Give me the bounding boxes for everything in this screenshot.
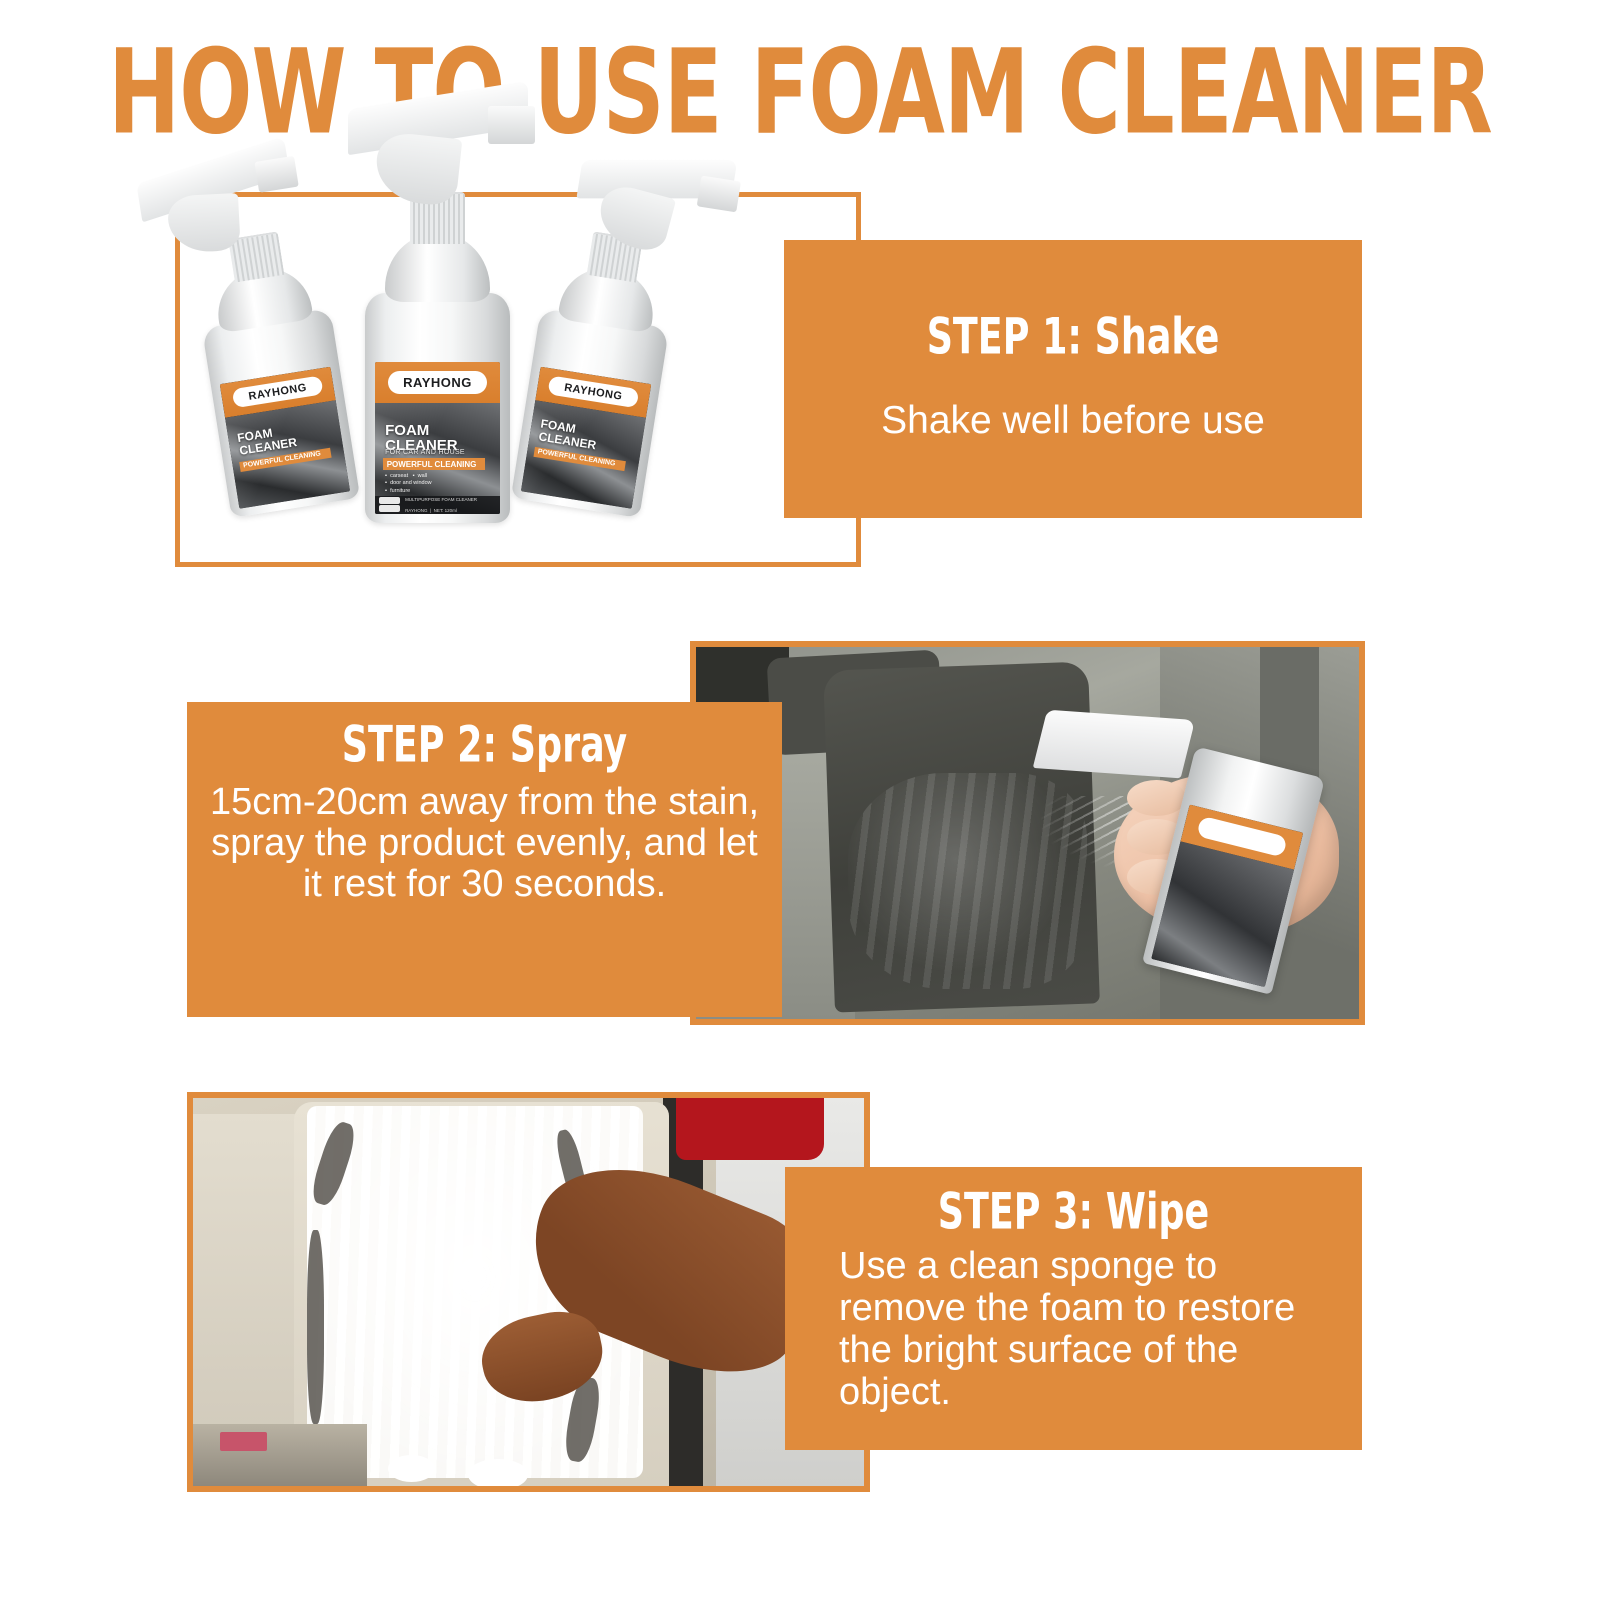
product-bottle-right: RAYHONG FOAM CLEANER POWERFUL CLEANING	[511, 308, 669, 518]
step-3-photo	[187, 1092, 870, 1492]
label-icon-badge	[379, 497, 400, 504]
spraying-car-seat-photo	[696, 647, 1359, 1019]
bottle-name-line-1: FOAM	[385, 423, 458, 438]
step-2-body: 15cm-20cm away from the stain, spray the…	[207, 782, 762, 905]
step-3-body: Use a clean sponge to remove the foam to…	[839, 1245, 1342, 1413]
step-1-photo-frame: RAYHONG FOAM CLEANER POWERFUL CLEANING	[175, 192, 861, 567]
bottle-label: RAYHONG FOAM CLEANER POWERFUL CLEANING	[521, 366, 651, 509]
wiping-foam-car-seat-photo	[193, 1098, 864, 1486]
person-red-shirt	[676, 1098, 824, 1160]
trigger-sprayer-icon	[1033, 710, 1195, 778]
bottle-subtitle: FOR CAR AND HOUSE	[385, 449, 465, 456]
bottle-bullet-2: door and window	[390, 480, 432, 486]
bottle-label: RAYHONG FOAM CLEANER FOR CAR AND HOUSE P…	[375, 362, 500, 514]
bottle-banner-text: POWERFUL CLEANING	[383, 460, 477, 469]
bottle-footer-line-1: MULTIPURPOSE FOAM CLEANER	[405, 497, 477, 502]
step-1-body: Shake well before use	[812, 398, 1334, 444]
infographic-page: HOW TO USE FOAM CLEANER RAYHONG FOAM CLE…	[0, 0, 1600, 1600]
bottle-bullet-0: carseat	[390, 473, 408, 479]
step-2-heading: STEP 2: Spray	[217, 720, 753, 770]
step-2-text-panel: STEP 2: Spray 15cm-20cm away from the st…	[187, 702, 782, 1017]
bottle-bullet-3: furniture	[390, 488, 410, 494]
bottle-brand-text: RAYHONG	[403, 375, 472, 390]
bottle-footer-line-2: RAYHONG	[405, 508, 427, 513]
product-bottles-photo: RAYHONG FOAM CLEANER POWERFUL CLEANING	[180, 197, 856, 562]
bottle-label-footer: MULTIPURPOSE FOAM CLEANER RAYHONG | NET:…	[375, 496, 500, 514]
bottle-bullet-1: wall	[418, 473, 427, 479]
step-1-heading: STEP 1: Shake	[813, 312, 1333, 362]
page-title: HOW TO USE FOAM CLEANER	[64, 34, 1536, 150]
product-bottle-center: RAYHONG FOAM CLEANER FOR CAR AND HOUSE P…	[365, 293, 510, 523]
label-icon-badge	[379, 505, 400, 512]
trigger-sprayer-icon	[348, 95, 528, 205]
step-2-photo	[690, 641, 1365, 1025]
step-1-text-panel: STEP 1: Shake Shake well before use	[784, 240, 1362, 518]
bottle-net-volume: NET: 120ml	[434, 508, 457, 513]
step-3-heading: STEP 3: Wipe	[814, 1187, 1333, 1237]
bottle-label: RAYHONG FOAM CLEANER POWERFUL CLEANING	[220, 366, 350, 509]
product-bottle-left: RAYHONG FOAM CLEANER POWERFUL CLEANING	[202, 308, 360, 518]
step-3-text-panel: STEP 3: Wipe Use a clean sponge to remov…	[785, 1167, 1362, 1450]
